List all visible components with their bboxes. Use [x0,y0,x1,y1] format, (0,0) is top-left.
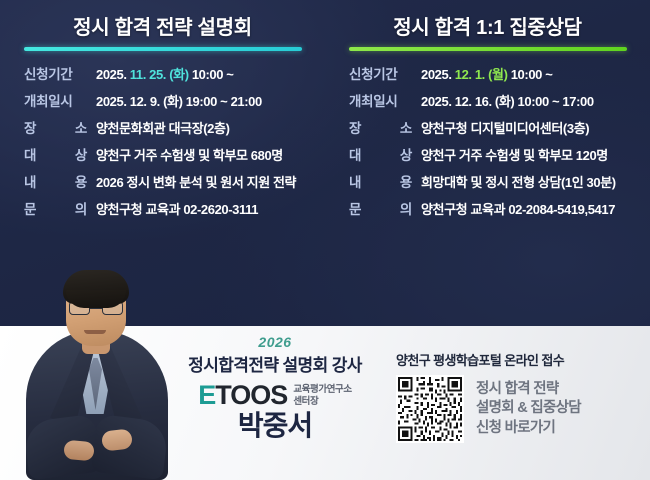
row-label: 개최일시 [349,90,421,110]
instructor-subtitle: 정시합격전략 설명회 강사 [160,351,390,376]
label-char: 상 [75,144,87,164]
label-char: 소 [75,117,87,137]
row-value: 양천구청 디지털미디어센터(3층) [421,118,589,137]
row-label: 대상 [349,144,421,164]
info-row: 내용 희망대학 및 정시 전형 상담(1인 30분) [349,171,650,198]
info-row: 대상 양천구 거주 수험생 및 학부모 120명 [349,144,650,171]
instructor-affiliation: 교육평가연구소 센터장 [293,384,351,407]
row-value: 2025. 12. 1. (월) 10:00 ~ [421,64,552,83]
qr-caption-line-1: 정시 합격 전략 [476,380,581,400]
row-label: 신청기간 [24,63,96,83]
row-label: 대상 [24,144,96,164]
label-char: 상 [400,144,412,164]
row-value: 양천구 거주 수험생 및 학부모 680명 [96,145,283,164]
panel-title: 정시 합격 1:1 집중상담 [325,11,650,40]
qr-caption-line-2: 설명회 & 집중상담 [476,399,581,419]
affiliation-line-2: 센터장 [293,396,351,407]
row-label: 장소 [24,117,96,137]
value-part: 2025. [421,67,455,82]
value-part: 2025. [96,67,130,82]
qr-caption-line-3: 신청 바로가기 [476,419,581,439]
row-label: 내용 [24,171,96,191]
row-label: 신청기간 [349,63,421,83]
panel-jipjungsangdam: 정시 합격 1:1 집중상담 신청기간 2025. 12. 1. (월) 10:… [325,0,650,326]
qr-heading: 양천구 평생학습포털 온라인 접수 [396,350,581,369]
info-rows: 신청기간 2025. 11. 25. (화) 10:00 ~ 개최일시 2025… [0,63,325,225]
row-value: 2026 정시 변화 분석 및 원서 지원 전략 [96,172,296,191]
label-char: 내 [24,171,36,191]
row-label: 문의 [349,198,421,218]
label-char: 내 [349,171,361,191]
row-value: 2025. 12. 9. (화) 19:00 ~ 21:00 [96,91,262,110]
logo-letters-toos: TOOS [215,380,287,410]
label-char: 장 [349,117,361,137]
value-part: 10:00 ~ [189,67,234,82]
info-row: 문의 양천구청 교육과 02-2620-3111 [24,198,325,225]
row-label: 내용 [349,171,421,191]
row-label: 장소 [349,117,421,137]
row-label: 개최일시 [24,90,96,110]
instructor-year: 2026 [160,334,390,350]
info-row: 개최일시 2025. 12. 9. (화) 19:00 ~ 21:00 [24,90,325,117]
qr-row: 정시 합격 전략 설명회 & 집중상담 신청 바로가기 [396,375,581,443]
logo-letter-e: E [198,380,215,410]
info-row: 신청기간 2025. 11. 25. (화) 10:00 ~ [24,63,325,90]
qr-registration-block[interactable]: 양천구 평생학습포털 온라인 접수 [396,350,581,443]
etoos-logo: ETOOS 교육평가연구소 센터장 [160,382,390,409]
photo-hand-right [63,440,95,462]
row-value: 2025. 11. 25. (화) 10:00 ~ [96,64,234,83]
panel-title: 정시 합격 전략 설명회 [0,11,325,40]
label-char: 용 [75,171,87,191]
label-char: 대 [24,144,36,164]
poster-root: 정시 합격 전략 설명회 신청기간 2025. 11. 25. (화) 10:0… [0,0,650,480]
info-row: 장소 양천문화회관 대극장(2층) [24,117,325,144]
label-char: 장 [24,117,36,137]
label-char: 문 [24,198,36,218]
photo-hair [63,270,129,304]
value-part-highlight: 11. 25. (화) [130,67,189,82]
info-row: 내용 2026 정시 변화 분석 및 원서 지원 전략 [24,171,325,198]
etoos-wordmark: ETOOS [198,382,287,409]
qr-caption: 정시 합격 전략 설명회 & 집중상담 신청 바로가기 [476,380,581,439]
value-part-highlight: 12. 1. (월) [455,67,508,82]
photo-mouth [84,330,106,334]
affiliation-line-1: 교육평가연구소 [293,384,351,395]
row-value: 양천문화회관 대극장(2층) [96,118,230,137]
row-value: 양천구 거주 수험생 및 학부모 120명 [421,145,608,164]
instructor-name: 박중서 [160,411,390,440]
info-row: 문의 양천구청 교육과 02-2084-5419,5417 [349,198,650,225]
label-char: 소 [400,117,412,137]
row-value: 양천구청 교육과 02-2084-5419,5417 [421,199,615,218]
label-char: 문 [349,198,361,218]
info-row: 장소 양천구청 디지털미디어센터(3층) [349,117,650,144]
info-rows: 신청기간 2025. 12. 1. (월) 10:00 ~ 개최일시 2025.… [325,63,650,225]
qr-code-svg [396,375,464,443]
row-label: 문의 [24,198,96,218]
info-row: 개최일시 2025. 12. 16. (화) 10:00 ~ 17:00 [349,90,650,117]
qr-code-icon[interactable] [396,375,464,443]
title-underline-cyan [24,47,302,51]
label-char: 대 [349,144,361,164]
row-value: 양천구청 교육과 02-2620-3111 [96,199,258,218]
title-underline-green [349,47,627,51]
info-row: 대상 양천구 거주 수험생 및 학부모 680명 [24,144,325,171]
label-char: 의 [400,198,412,218]
row-value: 2025. 12. 16. (화) 10:00 ~ 17:00 [421,91,594,110]
instructor-info: 2026 정시합격전략 설명회 강사 ETOOS 교육평가연구소 센터장 박중서 [160,334,390,440]
info-row: 신청기간 2025. 12. 1. (월) 10:00 ~ [349,63,650,90]
row-value: 희망대학 및 정시 전형 상담(1인 30분) [421,172,616,191]
label-char: 용 [400,171,412,191]
value-part: 10:00 ~ [508,67,553,82]
instructor-photo [22,258,172,480]
label-char: 의 [75,198,87,218]
